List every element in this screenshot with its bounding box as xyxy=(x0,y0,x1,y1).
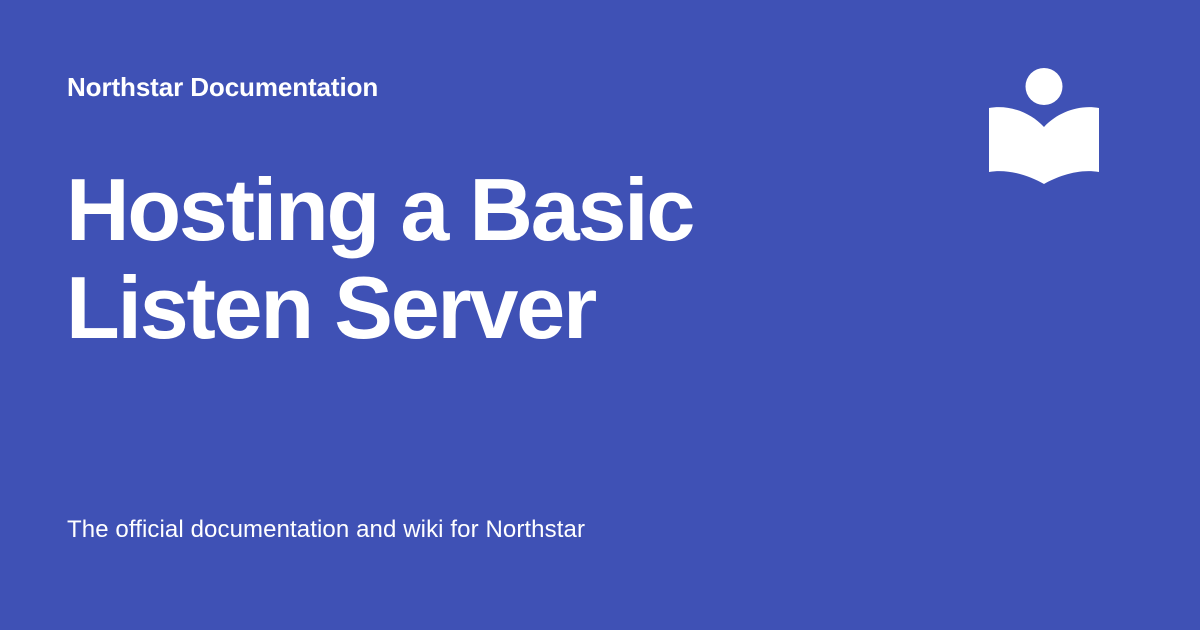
site-label: Northstar Documentation xyxy=(67,70,378,104)
tagline: The official documentation and wiki for … xyxy=(67,514,967,546)
page-title-line-1: Hosting a Basic xyxy=(66,161,866,259)
open-book-reader-icon xyxy=(985,62,1105,188)
page-title: Hosting a Basic Listen Server xyxy=(66,161,866,357)
page-title-line-2: Listen Server xyxy=(66,259,866,357)
open-graph-card: Northstar Documentation Hosting a Basic … xyxy=(0,0,1200,630)
